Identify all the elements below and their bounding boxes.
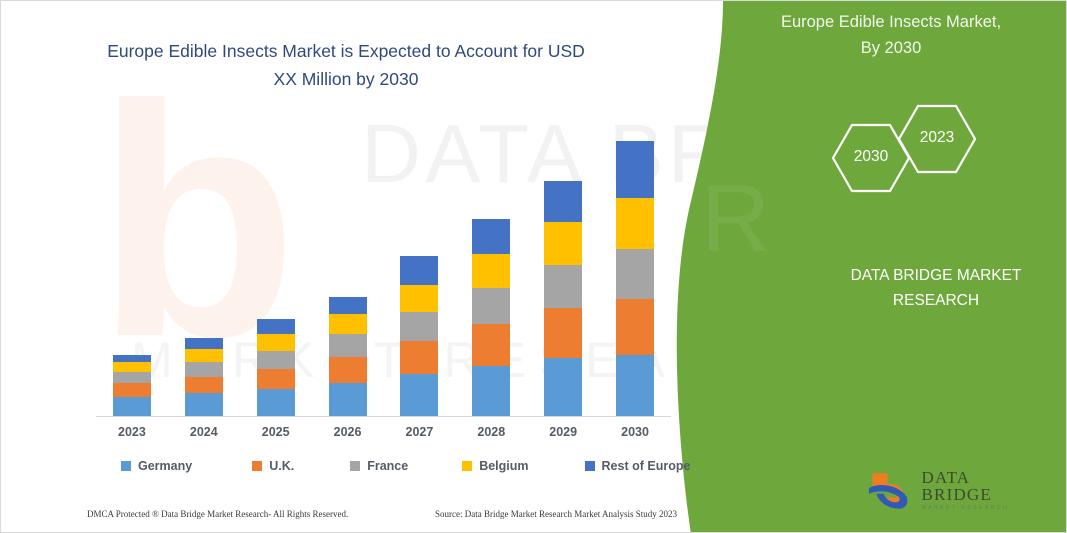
x-tick-label-2024: 2024	[168, 425, 240, 439]
bar-group-2030[interactable]	[616, 141, 654, 417]
brand-name-line1: DATA BRIDGE MARKET	[791, 263, 1067, 288]
bar-segment-belgium-2027[interactable]	[400, 285, 438, 313]
bar-group-2026[interactable]	[329, 297, 367, 417]
logo-mark-icon	[867, 468, 916, 512]
bar-segment-germany-2027[interactable]	[400, 374, 438, 417]
data-bridge-logo: DATA BRIDGE MARKET RESEARCH	[867, 467, 1037, 513]
legend-swatch-icon	[252, 461, 262, 471]
bar-segment-belgium-2026[interactable]	[329, 314, 367, 334]
bar-segment-rest-of-europe-2025[interactable]	[257, 319, 295, 334]
hexagon-2023-label: 2023	[903, 129, 971, 147]
legend-swatch-icon	[462, 461, 472, 471]
bar-segment-u-k--2029[interactable]	[544, 308, 582, 357]
bar-segment-rest-of-europe-2028[interactable]	[472, 219, 510, 255]
logo-main-text: DATA BRIDGE	[922, 469, 1037, 503]
bar-segment-france-2028[interactable]	[472, 288, 510, 325]
x-axis-line	[96, 416, 671, 417]
x-tick-label-2025: 2025	[240, 425, 312, 439]
bar-segment-france-2029[interactable]	[544, 265, 582, 308]
bar-segment-rest-of-europe-2027[interactable]	[400, 256, 438, 285]
bar-segment-u-k--2023[interactable]	[113, 383, 151, 397]
green-panel-title-line1: Europe Edible Insects Market,	[736, 9, 1046, 35]
legend-label: France	[367, 459, 408, 473]
x-tick-label-2027: 2027	[383, 425, 455, 439]
legend-swatch-icon	[350, 461, 360, 471]
x-tick-label-2028: 2028	[455, 425, 527, 439]
legend-label: Belgium	[479, 459, 528, 473]
bar-segment-france-2027[interactable]	[400, 312, 438, 341]
bar-segment-france-2026[interactable]	[329, 334, 367, 357]
bar-segment-belgium-2023[interactable]	[113, 362, 151, 372]
bar-segment-u-k--2026[interactable]	[329, 357, 367, 384]
bar-segment-rest-of-europe-2023[interactable]	[113, 355, 151, 362]
infographic-frame: b DATA BRIDGE MARKET RESEARCH R Europe E…	[0, 0, 1067, 533]
legend-label: Rest of Europe	[602, 459, 691, 473]
bar-segment-germany-2030[interactable]	[616, 355, 654, 417]
x-axis-tick-labels: 20232024202520262027202820292030	[96, 425, 671, 447]
bar-segment-rest-of-europe-2029[interactable]	[544, 181, 582, 221]
bar-group-2028[interactable]	[472, 219, 510, 417]
brand-name: DATA BRIDGE MARKET RESEARCH	[791, 263, 1067, 313]
bar-segment-france-2030[interactable]	[616, 249, 654, 298]
legend-item-u-k-[interactable]: U.K.	[252, 459, 294, 473]
legend-item-france[interactable]: France	[350, 459, 408, 473]
footer-source: Source: Data Bridge Market Research Mark…	[435, 509, 677, 519]
bar-segment-u-k--2028[interactable]	[472, 324, 510, 365]
chart-legend: GermanyU.K.FranceBelgiumRest of Europe	[121, 456, 661, 476]
bar-segment-u-k--2027[interactable]	[400, 341, 438, 374]
bar-segment-germany-2023[interactable]	[113, 397, 151, 417]
legend-item-belgium[interactable]: Belgium	[462, 459, 528, 473]
logo-text: DATA BRIDGE MARKET RESEARCH	[922, 469, 1037, 511]
bar-segment-belgium-2029[interactable]	[544, 222, 582, 265]
x-tick-label-2030: 2030	[599, 425, 671, 439]
bar-segment-germany-2024[interactable]	[185, 393, 223, 417]
bar-segment-germany-2029[interactable]	[544, 358, 582, 417]
bar-segment-belgium-2028[interactable]	[472, 254, 510, 288]
bar-segment-u-k--2024[interactable]	[185, 377, 223, 394]
chart-title-line1: Europe Edible Insects Market is Expected…	[41, 37, 651, 65]
chart-panel: Europe Edible Insects Market is Expected…	[1, 1, 721, 533]
x-tick-label-2023: 2023	[96, 425, 168, 439]
bar-segment-france-2025[interactable]	[257, 351, 295, 369]
x-tick-label-2026: 2026	[312, 425, 384, 439]
brand-name-line2: RESEARCH	[791, 288, 1067, 313]
stacked-bar-plot	[96, 121, 671, 417]
bar-group-2029[interactable]	[544, 181, 582, 417]
bar-segment-rest-of-europe-2030[interactable]	[616, 141, 654, 198]
bar-group-2025[interactable]	[257, 319, 295, 417]
bar-segment-france-2023[interactable]	[113, 372, 151, 384]
legend-item-rest-of-europe[interactable]: Rest of Europe	[585, 459, 691, 473]
green-panel-title-line2: By 2030	[736, 35, 1046, 61]
footer-copyright: DMCA Protected ® Data Bridge Market Rese…	[87, 509, 348, 519]
legend-swatch-icon	[121, 461, 131, 471]
x-tick-label-2029: 2029	[527, 425, 599, 439]
bar-segment-belgium-2024[interactable]	[185, 349, 223, 362]
bar-segment-germany-2028[interactable]	[472, 366, 510, 417]
bar-segment-germany-2026[interactable]	[329, 383, 367, 417]
chart-footer: DMCA Protected ® Data Bridge Market Rese…	[87, 509, 677, 519]
bar-segment-belgium-2025[interactable]	[257, 334, 295, 351]
bar-segment-rest-of-europe-2026[interactable]	[329, 297, 367, 315]
hexagon-group: 2030 2023	[811, 96, 1001, 221]
chart-title: Europe Edible Insects Market is Expected…	[41, 37, 651, 93]
bar-segment-belgium-2030[interactable]	[616, 198, 654, 249]
bar-group-2024[interactable]	[185, 338, 223, 417]
bar-segment-germany-2025[interactable]	[257, 389, 295, 417]
legend-label: U.K.	[269, 459, 294, 473]
logo-sub-text: MARKET RESEARCH	[922, 506, 1037, 511]
chart-title-line2: XX Million by 2030	[41, 65, 651, 93]
bar-segment-u-k--2030[interactable]	[616, 299, 654, 355]
bar-group-2027[interactable]	[400, 256, 438, 417]
bar-segment-france-2024[interactable]	[185, 362, 223, 377]
legend-label: Germany	[138, 459, 192, 473]
bar-group-2023[interactable]	[113, 355, 151, 417]
legend-swatch-icon	[585, 461, 595, 471]
legend-item-germany[interactable]: Germany	[121, 459, 192, 473]
green-panel-title: Europe Edible Insects Market, By 2030	[736, 9, 1046, 61]
bar-segment-rest-of-europe-2024[interactable]	[185, 338, 223, 349]
bar-segment-u-k--2025[interactable]	[257, 369, 295, 390]
hexagon-2030-label: 2030	[837, 148, 905, 166]
